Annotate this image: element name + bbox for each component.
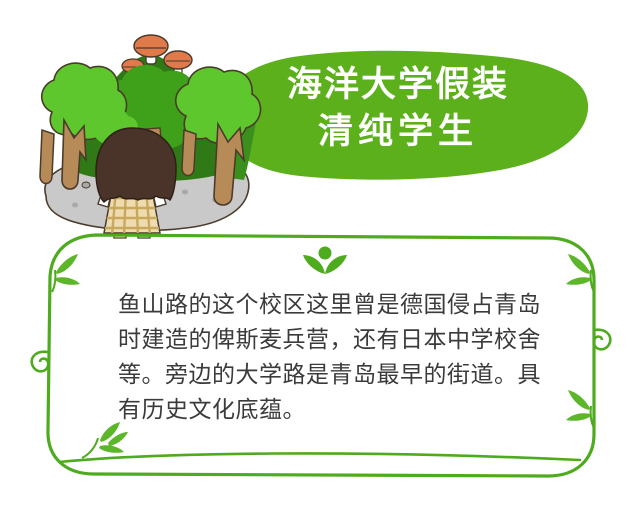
mushroom-right-cap (164, 51, 192, 69)
sprout-icon (303, 247, 347, 275)
spiral-curl-left (32, 352, 49, 372)
tree-right-trunk-secondary (182, 130, 196, 176)
pebble-4 (72, 203, 78, 208)
leaf-sprig-right-lower (566, 390, 594, 428)
poster-canvas: 海洋大学假装 清纯学生 鱼山路的这个校区这里曾是德国侵占青岛 时建造的俾斯麦兵营… (0, 0, 640, 510)
body-line-3: 等。旁边的大学路是青岛最早的街道。具 (118, 358, 536, 393)
pebble-1 (82, 182, 90, 188)
spiral-curl-right (594, 330, 611, 350)
body-line-4: 有历史文化底蕴。 (118, 393, 536, 428)
tree-left-trunk-secondary (40, 130, 54, 184)
poster-artwork (0, 0, 640, 510)
poster-body-text: 鱼山路的这个校区这里曾是德国侵占青岛 时建造的俾斯麦兵营，还有日本中学校舍 等。… (118, 288, 536, 428)
girl-hair (96, 128, 176, 202)
body-line-1: 鱼山路的这个校区这里曾是德国侵占青岛 (118, 288, 536, 323)
title-blob-shape (221, 51, 588, 180)
sprout-bud (319, 247, 332, 260)
pebble-3 (182, 190, 188, 195)
body-line-2: 时建造的俾斯麦兵营，还有日本中学校舍 (118, 323, 536, 358)
leaf-sprig-left-upper (52, 254, 80, 292)
frame-bottom-wobble (60, 453, 580, 462)
mushroom-center-cap (134, 35, 168, 57)
